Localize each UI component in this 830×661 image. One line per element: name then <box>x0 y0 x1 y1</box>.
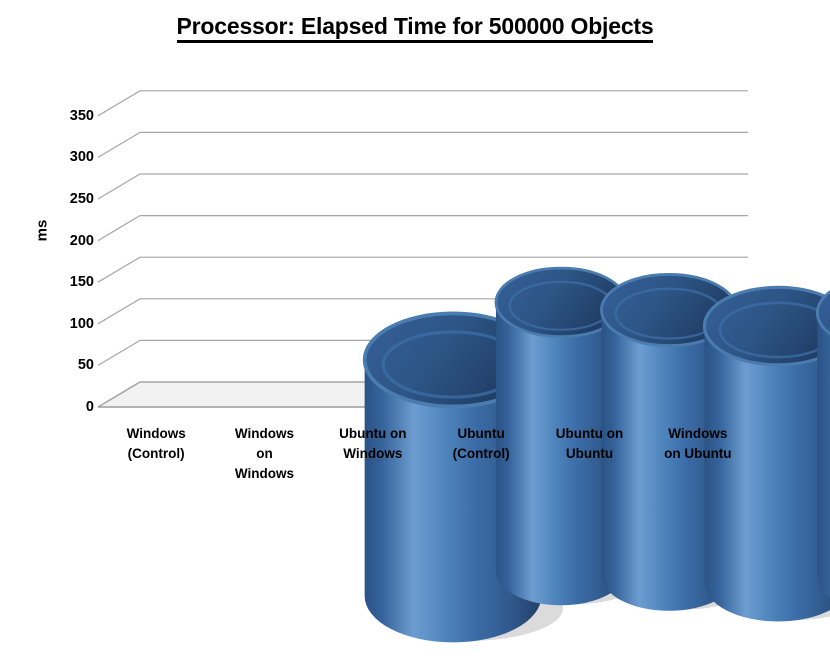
x-category-label: Windows(Control) <box>102 424 210 464</box>
x-category-label: Ubuntu onWindows <box>319 424 427 464</box>
x-category-label-line: Windows <box>210 464 318 484</box>
x-category-label-line: on Ubuntu <box>644 444 752 464</box>
bars-layer <box>98 60 748 420</box>
y-tick-label: 0 <box>44 399 94 415</box>
x-category-label-line: (Control) <box>427 444 535 464</box>
chart-title-text: Processor: Elapsed Time for 500000 Objec… <box>177 13 654 43</box>
x-category-label-line: Ubuntu <box>535 444 643 464</box>
x-category-label-line: Ubuntu <box>427 424 535 444</box>
x-category-label: Ubuntu onUbuntu <box>535 424 643 464</box>
y-tick-label: 350 <box>44 108 94 124</box>
x-category-label-line: Ubuntu on <box>535 424 643 444</box>
y-tick-label: 200 <box>44 233 94 249</box>
y-tick-label: 300 <box>44 149 94 165</box>
x-category-label-line: Windows <box>319 444 427 464</box>
x-category-label-line: Windows <box>210 424 318 444</box>
plot-area <box>98 60 748 420</box>
x-category-label: WindowsonWindows <box>210 424 318 484</box>
y-tick-label: 50 <box>44 357 94 373</box>
x-category-label: Windowson Ubuntu <box>644 424 752 464</box>
y-tick-label: 150 <box>44 274 94 290</box>
chart-title: Processor: Elapsed Time for 500000 Objec… <box>0 13 830 40</box>
chart-container: Processor: Elapsed Time for 500000 Objec… <box>0 0 830 577</box>
x-category-label-line: Ubuntu on <box>319 424 427 444</box>
y-tick-label: 250 <box>44 191 94 207</box>
x-axis-category-labels: Windows(Control)WindowsonWindowsUbuntu o… <box>98 424 748 514</box>
x-category-label-line: Windows <box>102 424 210 444</box>
bar-cylinder <box>236 259 293 417</box>
bar-cylinder <box>128 301 185 417</box>
bar-cylinder <box>669 123 726 416</box>
bar-cylinder <box>453 277 510 416</box>
x-category-label-line: on <box>210 444 318 464</box>
x-category-label: Ubuntu(Control) <box>427 424 535 464</box>
x-category-label-line: (Control) <box>102 444 210 464</box>
bar-cylinder <box>344 265 401 417</box>
x-category-label-line: Windows <box>644 424 752 444</box>
bar-cylinder <box>561 267 618 416</box>
y-axis-tick-labels: 050100150200250300350 <box>44 60 94 420</box>
y-tick-label: 100 <box>44 316 94 332</box>
